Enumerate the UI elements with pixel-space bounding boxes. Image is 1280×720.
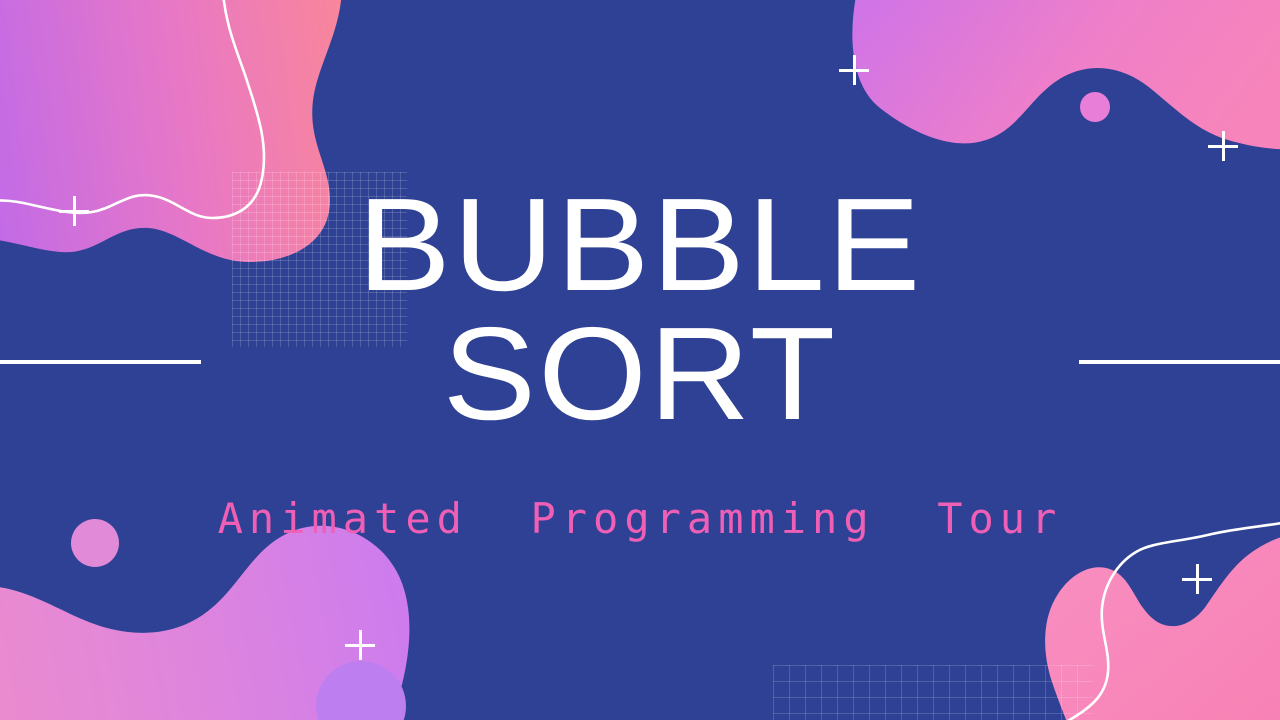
grid-pattern-bottom-right (773, 665, 1093, 720)
plus-mark-bottom-left (345, 630, 375, 660)
blob-top-right (852, 0, 1280, 150)
title-card-canvas: BUBBLE SORT Animated Programming Tour (0, 0, 1280, 720)
plus-mark-top-right (1208, 131, 1238, 161)
horizontal-rule-right (1079, 360, 1280, 364)
plus-mark-bottom-right (1182, 564, 1212, 594)
plus-mark-left (59, 196, 89, 226)
grid-pattern-top-left (232, 172, 407, 347)
dot-top-right (1080, 92, 1110, 122)
plus-mark-top-center (839, 55, 869, 85)
dot-bottom-left-small (71, 519, 119, 567)
horizontal-rule-left (0, 360, 201, 364)
